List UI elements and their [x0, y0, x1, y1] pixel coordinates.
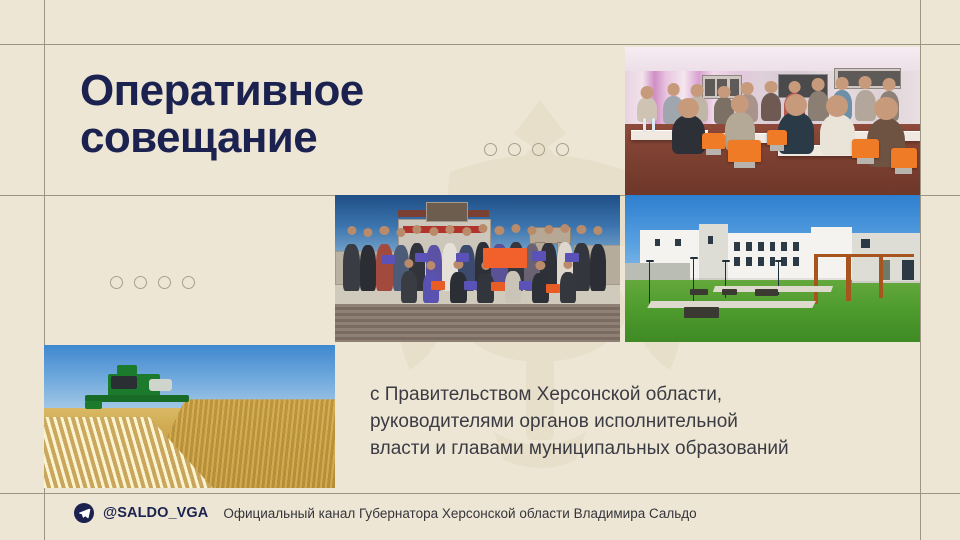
dot-icon: [158, 276, 171, 289]
photo-wheat-harvest: [44, 345, 335, 488]
decorative-dots-left: [110, 276, 195, 289]
dot-icon: [556, 143, 569, 156]
footer: @SALDO_VGA Официальный канал Губернатора…: [74, 503, 697, 523]
grid-line-vertical-right: [920, 0, 921, 540]
dot-icon: [134, 276, 147, 289]
grid-line-horizontal-top: [0, 44, 960, 45]
footer-description: Официальный канал Губернатора Херсонской…: [223, 506, 696, 521]
telegram-icon: [74, 503, 94, 523]
crowd-figures: [341, 236, 615, 312]
page-title: Оперативное совещание: [80, 68, 500, 161]
grid-line-horizontal-footer: [0, 493, 960, 494]
telegram-handle[interactable]: @SALDO_VGA: [103, 505, 208, 521]
photo-new-buildings: [625, 195, 920, 342]
dot-icon: [484, 143, 497, 156]
decorative-dots-title: [484, 143, 569, 156]
dot-icon: [110, 276, 123, 289]
dot-icon: [532, 143, 545, 156]
dot-icon: [508, 143, 521, 156]
dot-icon: [182, 276, 195, 289]
photo-youth-group: [335, 195, 620, 342]
photo-meeting-hall: [625, 47, 920, 195]
subtitle-text: с Правительством Херсонской области, рук…: [370, 382, 900, 463]
presentation-slide: Оперативное совещание с Правительством Х…: [0, 0, 960, 540]
